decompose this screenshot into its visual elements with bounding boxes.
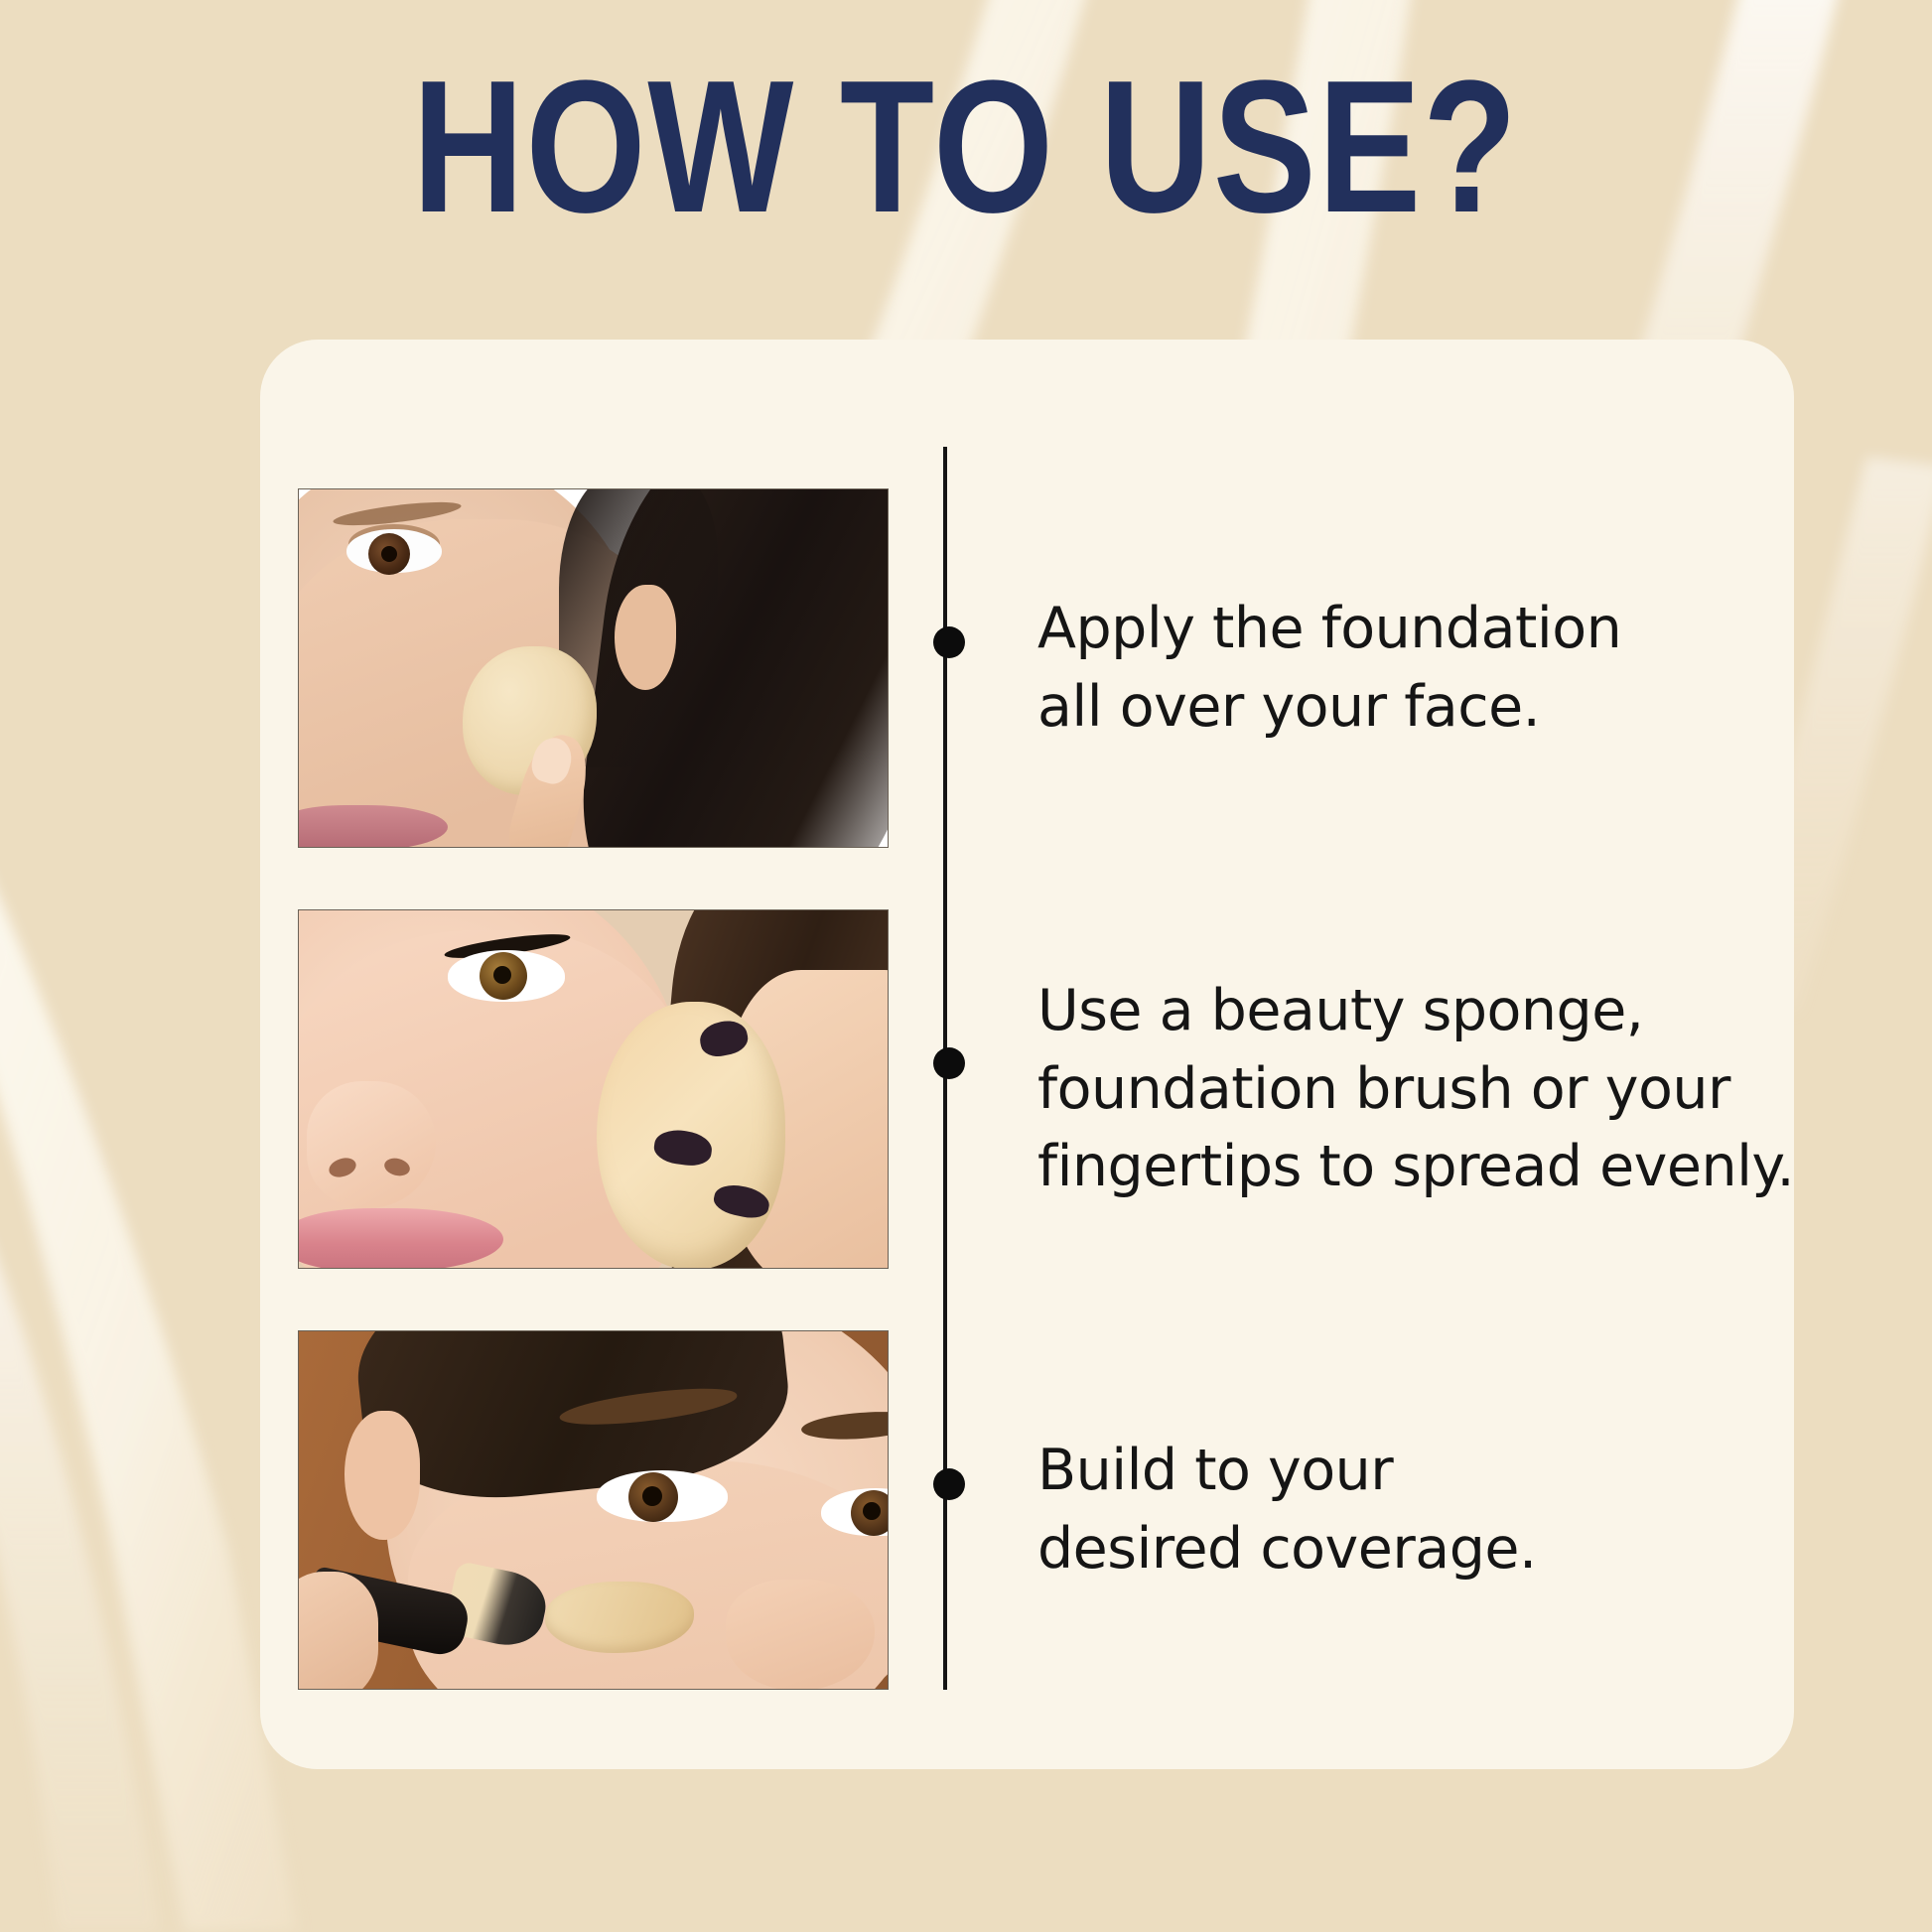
step-image-3	[298, 1330, 889, 1690]
step-line: fingertips to spread evenly.	[1037, 1128, 1794, 1206]
step-text-3: Build to your desired coverage.	[998, 1330, 1757, 1690]
page-title-container: HOW TO USE?	[0, 58, 1932, 237]
list-item: Apply the foundation all over your face.	[298, 488, 1757, 848]
step-line: all over your face.	[1037, 668, 1757, 747]
step-line: desired coverage.	[1037, 1510, 1757, 1588]
timeline-dot-icon	[933, 626, 965, 658]
step-line: Build to your	[1037, 1432, 1757, 1510]
how-to-use-card: Apply the foundation all over your face.	[260, 340, 1794, 1769]
step-image-1	[298, 488, 889, 848]
step-image-2	[298, 909, 889, 1269]
steps-list: Apply the foundation all over your face.	[298, 488, 1757, 1690]
step-line: Use a beauty sponge,	[1037, 972, 1794, 1050]
step-line: foundation brush or your	[1037, 1050, 1794, 1129]
timeline-dot-icon	[933, 1468, 965, 1500]
step-text-1: Apply the foundation all over your face.	[998, 488, 1757, 848]
step-text-2: Use a beauty sponge, foundation brush or…	[998, 909, 1794, 1269]
page-title: HOW TO USE?	[413, 58, 1519, 237]
step-line: Apply the foundation	[1037, 590, 1757, 668]
timeline-dot-icon	[933, 1047, 965, 1079]
list-item: Use a beauty sponge, foundation brush or…	[298, 909, 1757, 1269]
list-item: Build to your desired coverage.	[298, 1330, 1757, 1690]
